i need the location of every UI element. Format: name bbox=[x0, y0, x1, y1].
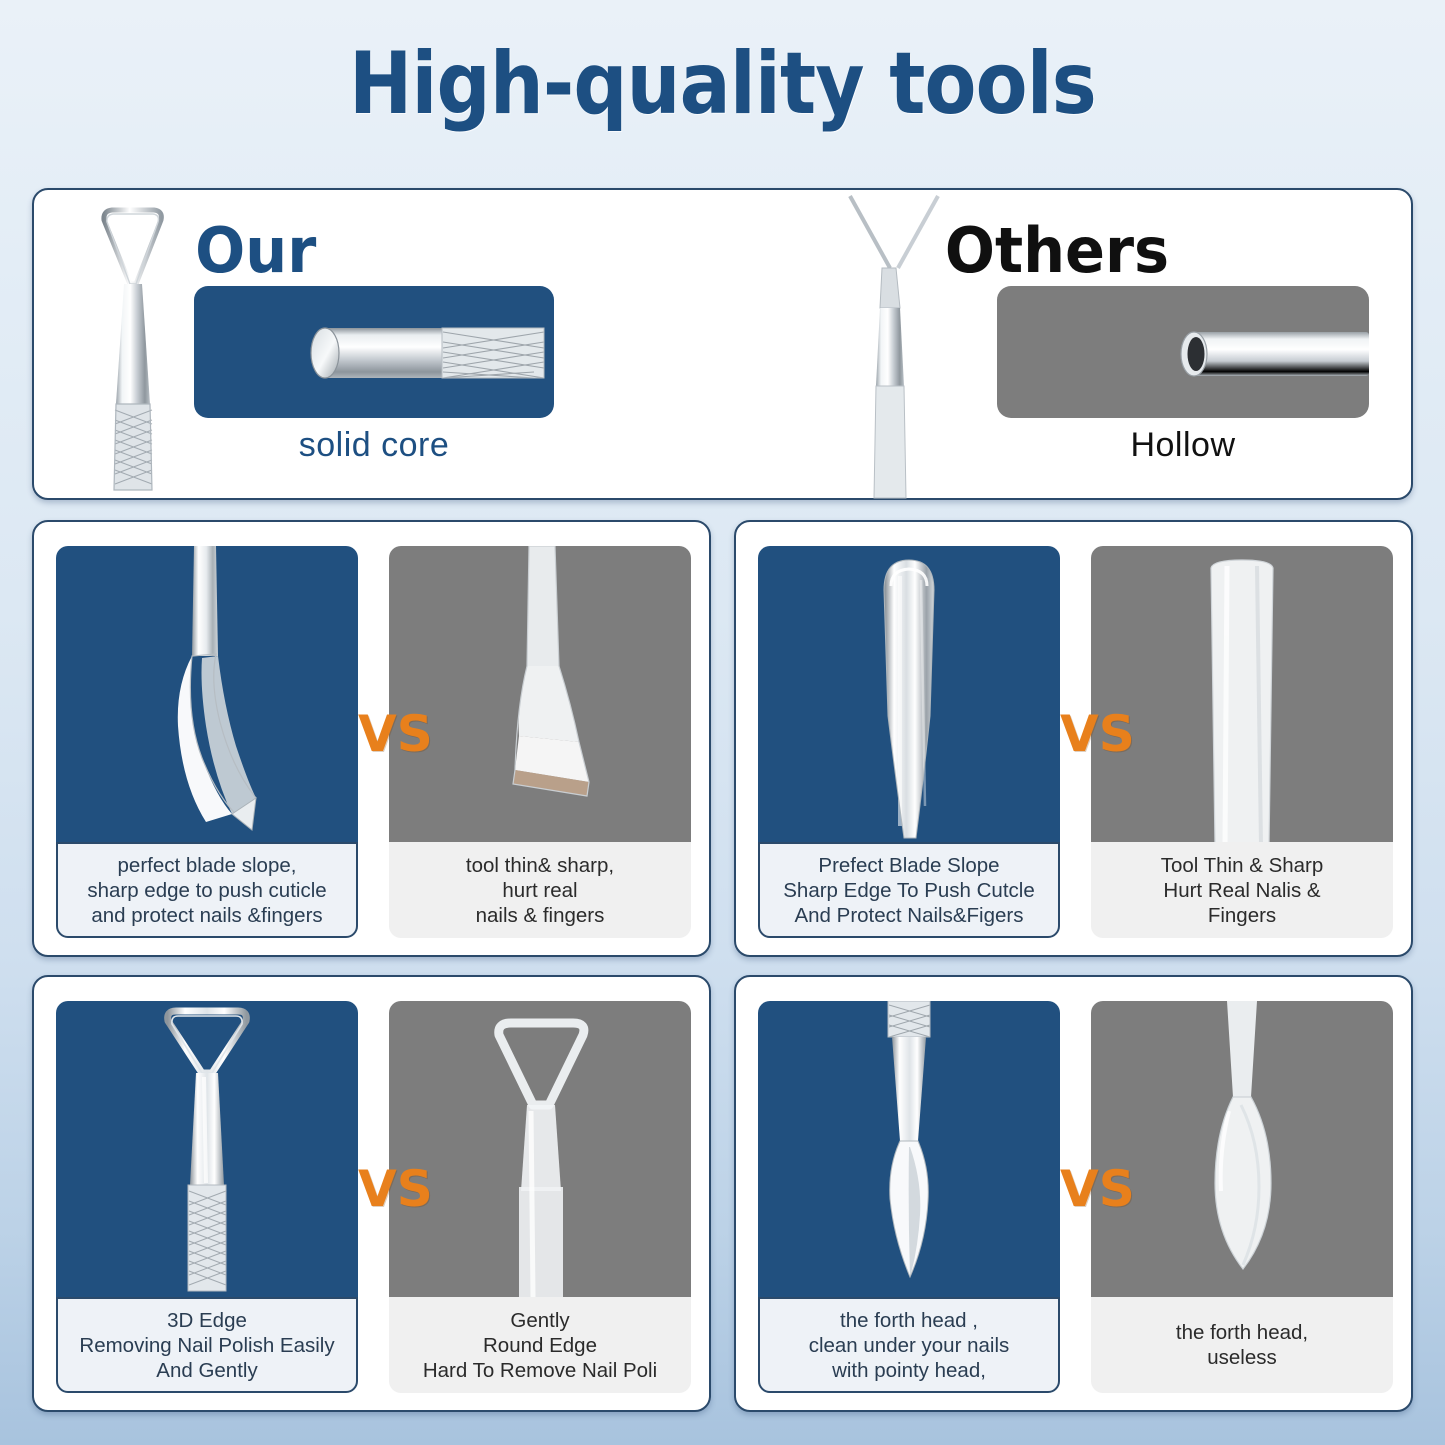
our-solid-core-swatch bbox=[194, 286, 554, 418]
pointy-forth-head-photo bbox=[758, 1001, 1060, 1301]
ours-side: Prefect Blade Slope Sharp Edge To Push C… bbox=[758, 546, 1060, 936]
caption-line: Fingers bbox=[1161, 903, 1324, 928]
page-title: High-quality tools bbox=[87, 34, 1359, 134]
theirs-side: the forth head, useless bbox=[1091, 1001, 1393, 1391]
caption-line: with pointy head, bbox=[809, 1358, 1010, 1383]
comparison-card-forth-head: the forth head , clean under your nails … bbox=[734, 975, 1413, 1412]
caption-line: Removing Nail Polish Easily bbox=[79, 1333, 334, 1358]
vs-label: VS bbox=[1060, 1160, 1122, 1218]
hollow-caption: Hollow bbox=[997, 426, 1369, 465]
curved-blade-head-photo bbox=[56, 546, 358, 846]
infographic-page: High-quality tools bbox=[0, 0, 1445, 1445]
caption-line: the forth head , bbox=[809, 1308, 1010, 1333]
solid-vs-hollow-card: Our bbox=[32, 188, 1413, 500]
caption-line: perfect blade slope, bbox=[87, 853, 326, 878]
ours-caption: the forth head , clean under your nails … bbox=[758, 1297, 1060, 1393]
vs-label: VS bbox=[1060, 705, 1122, 763]
theirs-caption: tool thin& sharp, hurt real nails & fing… bbox=[389, 842, 691, 938]
caption-line: the forth head, bbox=[1176, 1320, 1308, 1345]
vs-label: VS bbox=[358, 1160, 420, 1218]
ours-side: the forth head , clean under your nails … bbox=[758, 1001, 1060, 1391]
caption-line: clean under your nails bbox=[809, 1333, 1010, 1358]
caption-line: and protect nails &fingers bbox=[87, 903, 326, 928]
thin-sharp-blade-head-photo bbox=[389, 546, 691, 846]
caption-line: Hard To Remove Nail Poli bbox=[423, 1358, 657, 1383]
theirs-side: Gently Round Edge Hard To Remove Nail Po… bbox=[389, 1001, 691, 1391]
caption-line: tool thin& sharp, bbox=[466, 853, 614, 878]
flat-thin-pusher-head-photo bbox=[1091, 546, 1393, 846]
caption-line: Tool Thin & Sharp bbox=[1161, 853, 1324, 878]
triangle-round-edge-tool-photo bbox=[389, 1001, 691, 1301]
others-heading: Others bbox=[945, 214, 1169, 287]
theirs-caption: Tool Thin & Sharp Hurt Real Nalis & Fing… bbox=[1091, 842, 1393, 938]
ours-caption: 3D Edge Removing Nail Polish Easily And … bbox=[56, 1297, 358, 1393]
comparison-card-triangle-edge: 3D Edge Removing Nail Polish Easily And … bbox=[32, 975, 711, 1412]
caption-line: hurt real bbox=[466, 878, 614, 903]
vs-label: VS bbox=[358, 705, 420, 763]
ours-caption: Prefect Blade Slope Sharp Edge To Push C… bbox=[758, 842, 1060, 938]
hollow-tube-icon bbox=[997, 286, 1369, 418]
our-heading: Our bbox=[195, 214, 316, 287]
comparison-card-blade-slope: perfect blade slope, sharp edge to push … bbox=[32, 520, 711, 957]
theirs-caption: Gently Round Edge Hard To Remove Nail Po… bbox=[389, 1297, 691, 1393]
others-hollow-swatch bbox=[997, 286, 1369, 418]
caption-line: sharp edge to push cuticle bbox=[87, 878, 326, 903]
triangle-3d-edge-tool-photo bbox=[56, 1001, 358, 1301]
full-tool-others-photo bbox=[834, 190, 954, 502]
ours-side: perfect blade slope, sharp edge to push … bbox=[56, 546, 358, 936]
caption-line: useless bbox=[1176, 1345, 1308, 1370]
caption-line: nails & fingers bbox=[466, 903, 614, 928]
caption-line: And Gently bbox=[79, 1358, 334, 1383]
rounded-pusher-head-photo bbox=[758, 546, 1060, 846]
solid-core-caption: solid core bbox=[194, 426, 554, 465]
caption-line: Round Edge bbox=[423, 1333, 657, 1358]
theirs-caption: the forth head, useless bbox=[1091, 1297, 1393, 1393]
ours-caption: perfect blade slope, sharp edge to push … bbox=[56, 842, 358, 938]
caption-line: And Protect Nails&Figers bbox=[783, 903, 1034, 928]
ours-side: 3D Edge Removing Nail Polish Easily And … bbox=[56, 1001, 358, 1391]
caption-line: Hurt Real Nalis & bbox=[1161, 878, 1324, 903]
caption-line: Prefect Blade Slope bbox=[783, 853, 1034, 878]
blunt-forth-head-photo bbox=[1091, 1001, 1393, 1301]
caption-line: Gently bbox=[423, 1308, 657, 1333]
theirs-side: tool thin& sharp, hurt real nails & fing… bbox=[389, 546, 691, 936]
theirs-side: Tool Thin & Sharp Hurt Real Nalis & Fing… bbox=[1091, 546, 1393, 936]
caption-line: 3D Edge bbox=[79, 1308, 334, 1333]
solid-core-rod-icon bbox=[194, 286, 554, 418]
full-tool-ours-photo bbox=[74, 198, 194, 498]
comparison-card-pusher-head: Prefect Blade Slope Sharp Edge To Push C… bbox=[734, 520, 1413, 957]
caption-line: Sharp Edge To Push Cutcle bbox=[783, 878, 1034, 903]
